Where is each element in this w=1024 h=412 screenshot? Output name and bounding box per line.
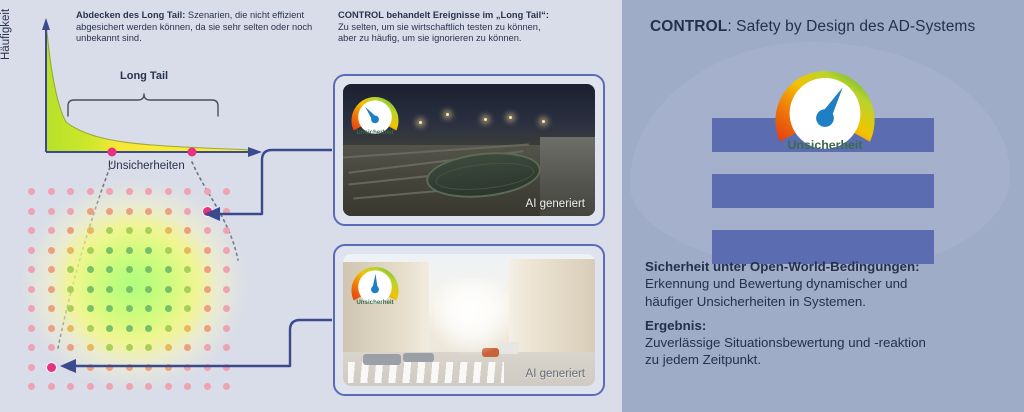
infographic-root: Abdecken des Long Tail: Szenarien, die n…	[0, 0, 1024, 412]
matrix-dot	[106, 247, 113, 254]
matrix-dot	[28, 266, 35, 273]
matrix-dot	[106, 286, 113, 293]
matrix-dot	[165, 325, 172, 332]
chart-bracket-label: Long Tail	[120, 70, 168, 82]
matrix-dot	[67, 208, 74, 215]
matrix-dot	[87, 383, 94, 390]
matrix-dot	[67, 305, 74, 312]
matrix-dot	[48, 247, 55, 254]
matrix-dot	[87, 344, 94, 351]
matrix-dot	[126, 344, 133, 351]
matrix-dot	[126, 188, 133, 195]
matrix-dot	[204, 305, 211, 312]
matrix-dot	[165, 305, 172, 312]
matrix-dot	[165, 188, 172, 195]
matrix-dot	[145, 383, 152, 390]
chart-y-axis-label: Häufigkeit	[0, 9, 12, 60]
matrix-dot	[67, 325, 74, 332]
matrix-dot	[184, 208, 191, 215]
matrix-dot	[165, 266, 172, 273]
paragraph-control: CONTROL behandelt Ereignisse im „Long Ta…	[338, 10, 606, 45]
matrix-dot	[28, 286, 35, 293]
paragraph-control-rest: Zu selten, um sie wirtschaftlich testen …	[338, 22, 541, 44]
matrix-dot	[223, 286, 230, 293]
lamp-3	[509, 116, 512, 119]
matrix-dot	[126, 247, 133, 254]
crosswalk	[348, 362, 504, 383]
watermark-ai-generated-top: AI generiert	[526, 198, 585, 210]
matrix-dot	[87, 227, 94, 234]
matrix-dot	[204, 286, 211, 293]
chart-y-axis-arrow	[42, 18, 50, 30]
matrix-dot	[126, 286, 133, 293]
right-panel-title-rest: : Safety by Design des AD-Systems	[727, 18, 975, 35]
block-0-body: Erkennung und Bewertung dynamischer und …	[645, 275, 1017, 310]
matrix-dot	[184, 344, 191, 351]
matrix-dot	[184, 286, 191, 293]
matrix-dot	[165, 247, 172, 254]
matrix-dot	[145, 286, 152, 293]
matrix-dot	[28, 344, 35, 351]
matrix-dot	[106, 188, 113, 195]
matrix-dot	[145, 344, 152, 351]
matrix-dot	[165, 383, 172, 390]
matrix-dot	[223, 188, 230, 195]
watermark-ai-generated-bottom: AI generiert	[526, 368, 585, 380]
matrix-dot	[87, 247, 94, 254]
matrix-dot	[184, 305, 191, 312]
matrix-dot	[106, 344, 113, 351]
matrix-dot	[204, 325, 211, 332]
matrix-dot	[28, 247, 35, 254]
svg-text:Unsicherheit: Unsicherheit	[788, 138, 863, 152]
block-0-heading: Sicherheit unter Open-World-Bedingungen:	[645, 258, 1017, 275]
matrix-dot	[126, 383, 133, 390]
matrix-dot	[126, 364, 133, 371]
matrix-dot-highlighted	[203, 207, 212, 216]
paragraph-control-bold: CONTROL behandelt Ereignisse im „Long Ta…	[338, 10, 549, 20]
card-railway-night[interactable]: AI generiert	[333, 74, 605, 226]
matrix-dot	[106, 227, 113, 234]
matrix-dot	[204, 266, 211, 273]
lamp-4	[542, 120, 545, 123]
matrix-dot	[145, 266, 152, 273]
matrix-dot	[223, 247, 230, 254]
matrix-dot	[67, 286, 74, 293]
lamp-2	[484, 118, 487, 121]
matrix-dot	[28, 188, 35, 195]
matrix-dot	[184, 383, 191, 390]
matrix-dot	[204, 364, 211, 371]
right-panel-text-blocks: Sicherheit unter Open-World-Bedingungen:…	[645, 258, 1017, 369]
matrix-dot	[145, 247, 152, 254]
matrix-dot	[87, 208, 94, 215]
matrix-dot	[48, 266, 55, 273]
matrix-dot	[28, 325, 35, 332]
matrix-dot	[106, 364, 113, 371]
matrix-dot	[87, 325, 94, 332]
long-tail-chart: Häufigkeit Unsicherheiten Long Tail	[12, 8, 272, 168]
matrix-dot	[48, 325, 55, 332]
matrix-dot	[87, 286, 94, 293]
matrix-dot	[28, 364, 35, 371]
matrix-dot	[67, 266, 74, 273]
matrix-dot	[126, 305, 133, 312]
matrix-dot	[145, 188, 152, 195]
chart-x-axis-label: Unsicherheiten	[108, 160, 185, 172]
right-panel-title: CONTROL: Safety by Design des AD-Systems	[650, 18, 1024, 36]
matrix-dot	[223, 227, 230, 234]
matrix-dot	[165, 227, 172, 234]
matrix-dot	[28, 305, 35, 312]
matrix-dot	[106, 208, 113, 215]
matrix-dot	[204, 383, 211, 390]
matrix-dot	[223, 305, 230, 312]
matrix-dot	[126, 266, 133, 273]
matrix-dot	[48, 383, 55, 390]
matrix-dot	[87, 188, 94, 195]
chart-marker-left	[108, 148, 117, 157]
matrix-dot	[184, 266, 191, 273]
matrix-dot	[184, 227, 191, 234]
left-panel: Abdecken des Long Tail: Szenarien, die n…	[0, 0, 622, 412]
matrix-dot	[145, 305, 152, 312]
matrix-dot	[87, 266, 94, 273]
matrix-dot	[28, 383, 35, 390]
matrix-dot	[223, 344, 230, 351]
matrix-dot	[145, 208, 152, 215]
car-1	[363, 354, 401, 365]
matrix-dot	[67, 227, 74, 234]
matrix-dot	[67, 344, 74, 351]
lamp-1	[446, 113, 449, 116]
matrix-dot	[67, 364, 74, 371]
matrix-dot	[184, 188, 191, 195]
gauge-uncertainty-bottom: Unsicherheit	[347, 258, 403, 314]
matrix-dot	[165, 208, 172, 215]
matrix-dot	[106, 383, 113, 390]
matrix-dot	[165, 364, 172, 371]
matrix-dot	[48, 188, 55, 195]
matrix-dot	[48, 344, 55, 351]
chart-marker-right	[188, 148, 197, 157]
matrix-dot	[145, 227, 152, 234]
matrix-dot	[28, 227, 35, 234]
matrix-dot	[67, 383, 74, 390]
uncertainty-dot-matrix	[28, 188, 238, 390]
matrix-dot	[184, 325, 191, 332]
matrix-dot	[106, 266, 113, 273]
matrix-dot	[204, 188, 211, 195]
matrix-dot	[145, 364, 152, 371]
matrix-dot	[145, 325, 152, 332]
matrix-dot	[28, 208, 35, 215]
matrix-dot	[106, 325, 113, 332]
gauge-uncertainty-main: Unsicherheit	[766, 52, 884, 170]
matrix-dot	[204, 344, 211, 351]
svg-text:Unsicherheit: Unsicherheit	[356, 299, 393, 306]
matrix-dot	[48, 286, 55, 293]
matrix-dot	[126, 325, 133, 332]
photo-railway-night: AI generiert	[343, 84, 595, 216]
gauge-uncertainty-top: Unsicherheit	[347, 88, 403, 144]
long-tail-chart-svg	[12, 8, 272, 168]
buildings-right	[509, 259, 595, 362]
photo-city-street-day: AI generiert Unsicherheit	[343, 254, 595, 386]
matrix-dot	[204, 247, 211, 254]
chart-x-axis-arrow	[248, 147, 262, 157]
matrix-dot	[48, 208, 55, 215]
matrix-dot	[87, 305, 94, 312]
chart-area	[46, 22, 252, 152]
matrix-dot	[223, 208, 230, 215]
matrix-dot	[223, 383, 230, 390]
car-2	[403, 353, 433, 362]
matrix-dot	[67, 247, 74, 254]
matrix-dot	[87, 364, 94, 371]
block-1-body: Zuverlässige Situationsbewertung und -re…	[645, 334, 1017, 369]
matrix-dot	[223, 325, 230, 332]
matrix-dot	[106, 305, 113, 312]
matrix-dot	[48, 227, 55, 234]
matrix-dot	[67, 188, 74, 195]
matrix-dot	[184, 247, 191, 254]
sun-haze	[434, 278, 510, 357]
right-panel-title-bold: CONTROL	[650, 18, 727, 35]
matrix-dot	[184, 364, 191, 371]
matrix-dot	[48, 305, 55, 312]
matrix-dot	[223, 266, 230, 273]
matrix-dot	[126, 208, 133, 215]
svg-text:Unsicherheit: Unsicherheit	[356, 129, 393, 136]
matrix-dot	[165, 344, 172, 351]
matrix-dot	[165, 286, 172, 293]
matrix-dot-highlighted	[47, 363, 56, 372]
matrix-dot	[204, 227, 211, 234]
matrix-dot	[126, 227, 133, 234]
chart-bracket	[68, 94, 218, 116]
block-1-heading: Ergebnis:	[645, 317, 1017, 334]
matrix-dot	[223, 364, 230, 371]
card-city-street-day[interactable]: AI generiert Unsicherheit	[333, 244, 605, 396]
lamp-5	[419, 121, 422, 124]
layer-bar-2	[712, 174, 934, 208]
